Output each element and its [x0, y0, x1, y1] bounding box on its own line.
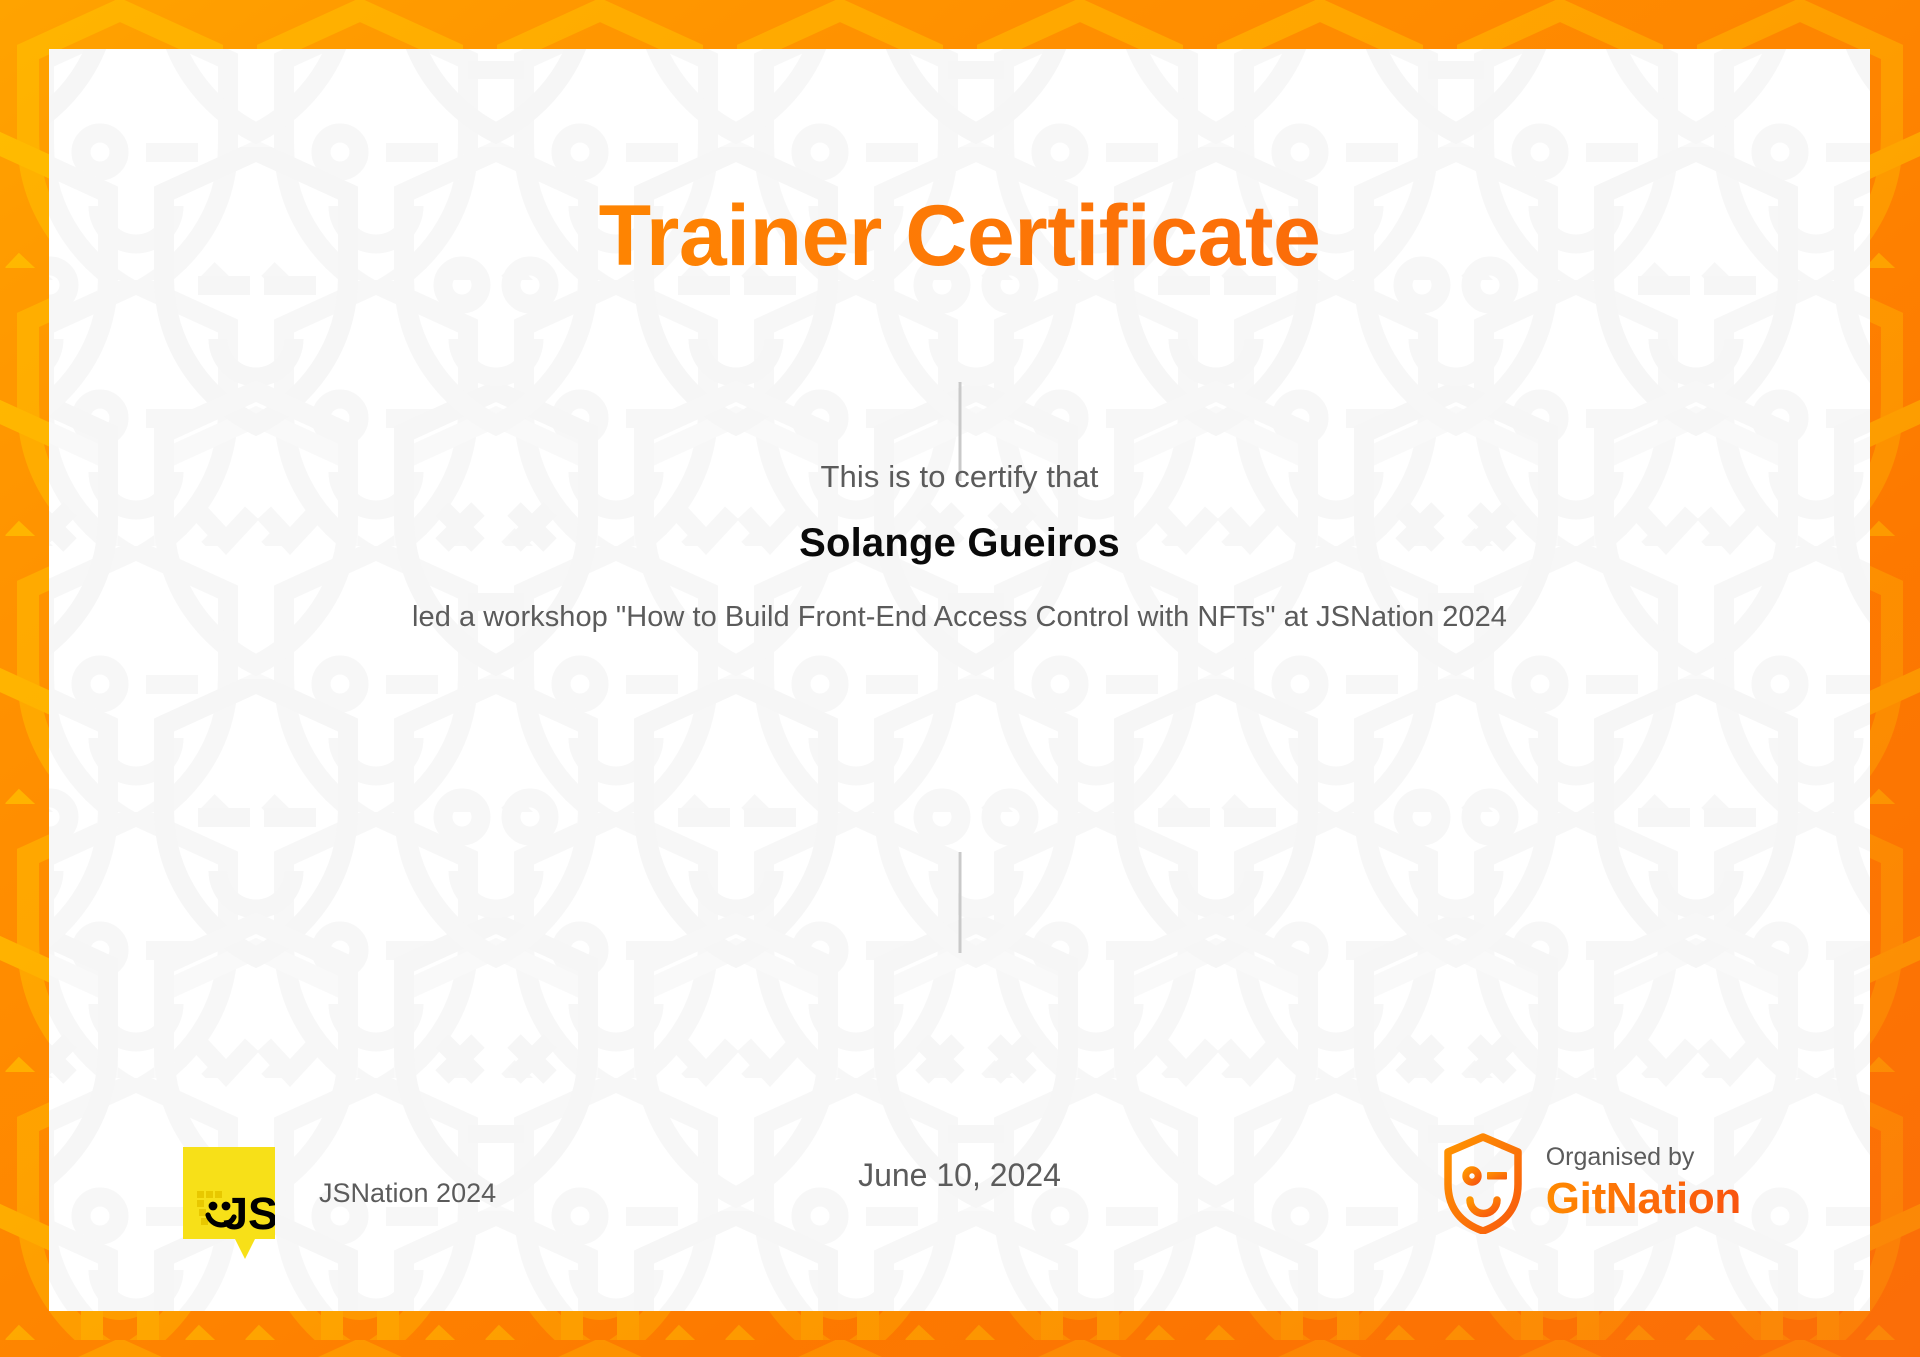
divider-bottom: [958, 852, 961, 953]
certificate-card: Trainer Certificate This is to certify t…: [49, 49, 1870, 1311]
event-block: JS JSNation 2024: [183, 1147, 496, 1239]
page-title: Trainer Certificate: [49, 191, 1870, 281]
event-name: JSNation 2024: [319, 1178, 496, 1209]
organised-by-label: Organised by: [1546, 1143, 1741, 1172]
achievement-description: led a workshop "How to Build Front-End A…: [360, 597, 1560, 638]
svg-text:JS: JS: [223, 1188, 275, 1239]
organiser-name: GitNation: [1546, 1174, 1741, 1224]
certificate: Trainer Certificate This is to certify t…: [0, 0, 1920, 1357]
organiser-block: Organised by GitNation: [1443, 1132, 1741, 1234]
certificate-footer: JS JSNation 2024 June 10, 2024: [49, 1001, 1870, 1311]
certify-line: This is to certify that: [49, 457, 1870, 497]
js-logo-icon: JS: [183, 1147, 275, 1239]
issue-date: June 10, 2024: [858, 1157, 1061, 1194]
gitnation-shield-icon: [1443, 1132, 1523, 1234]
recipient-name: Solange Gueiros: [49, 518, 1870, 568]
certificate-body: This is to certify that Solange Gueiros …: [49, 457, 1870, 638]
